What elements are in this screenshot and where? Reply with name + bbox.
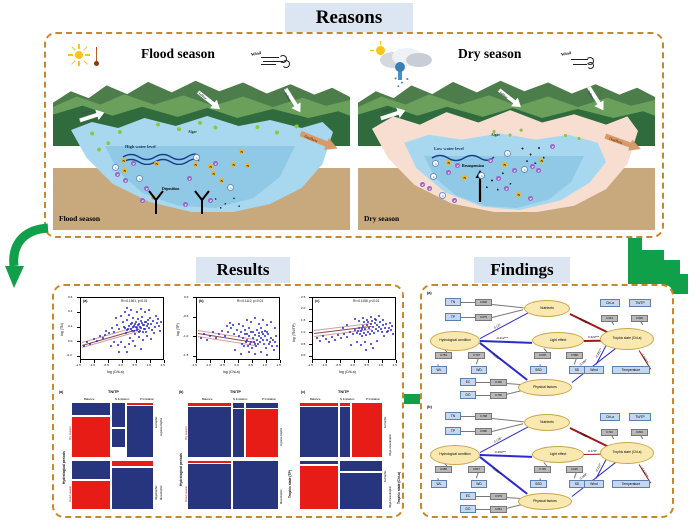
mosaic-a-col-label: Balance <box>84 397 94 401</box>
sem-b-loading-TP: 0.590 <box>475 428 492 435</box>
sem-b-observed-TN-TP[interactable]: TN/TP <box>629 413 651 421</box>
mosaic-a-xaxis-label: Hydrological periods <box>62 451 66 484</box>
sem-diagram-b: (b) TN TP 0.798 0.590 WL WD 0.686 <box>424 404 674 516</box>
mosaic-tile <box>188 407 231 457</box>
mosaic-b-xaxis-label: Hydrological periods <box>179 453 183 486</box>
sem-b-loading-DO: 0.861 <box>490 506 507 513</box>
algae-label-dry: Algae <box>491 133 500 137</box>
x-tick-label: 0.5 <box>365 364 369 368</box>
sem-a-loading-EC: 0.460 <box>490 379 507 386</box>
sem-a-loading-WD: 0.707 <box>468 352 485 359</box>
x-tick-label: 0.5 <box>249 364 253 368</box>
sem-b-loading-WD: 0.817 <box>468 466 485 473</box>
flood-season-title: Flood season <box>141 46 215 62</box>
dry-season-corner-tag: Dry season <box>364 214 399 223</box>
sem-b-latent-trophic-state[interactable]: Trophic state (Chl-a) <box>600 442 654 464</box>
mosaic-tile <box>246 409 278 457</box>
sem-a-observed-DO[interactable]: DO <box>460 391 476 399</box>
sem-a-coef-nutrients-trophic: 0.509*** <box>579 317 591 325</box>
sem-b-observed-Chl-a[interactable]: Chl-a <box>600 413 620 421</box>
x-tick-label: 1.0 <box>263 364 267 368</box>
y-tick-label: 2.5 <box>301 296 305 300</box>
mosaic-tile <box>127 406 153 457</box>
scatter-plot-c-ylabel: log (TN/TP) <box>292 323 296 342</box>
sem-loading-line <box>492 304 524 308</box>
x-tick-label: -1.5 <box>308 364 313 368</box>
x-tick-label: -1.0 <box>90 364 95 368</box>
sem-a-observed-Chl-a[interactable]: Chl-a <box>600 299 620 307</box>
sem-b-latent-light-effect[interactable]: Light effect <box>532 446 584 463</box>
mosaic-tile <box>340 407 350 457</box>
x-tick-label: 1.0 <box>379 364 383 368</box>
water-level-wave-dry <box>430 152 496 162</box>
mosaic-a-row-label: Dry season <box>69 426 72 440</box>
sem-path-hydro-light <box>480 340 532 343</box>
sem-b-observed-DO[interactable]: DO <box>460 505 476 513</box>
sem-path-hydro-physical <box>480 456 528 494</box>
mosaic-a-col-label: P limitation <box>140 397 154 401</box>
y-tick-label: -0.5 <box>183 315 188 319</box>
x-tick-label: -0.5 <box>220 364 225 368</box>
section-title-results: Results <box>196 257 290 283</box>
mosaic-tile <box>300 461 338 464</box>
water-level-label-dry: Low water level <box>434 146 464 151</box>
sem-b-coef-nutrients-trophic: 0.388*** <box>579 431 591 439</box>
y-tick-label: 0.5 <box>301 343 305 347</box>
mosaic-c-right-label: Oligo-mesotrophic <box>389 434 392 456</box>
mosaic-tile <box>72 417 110 457</box>
x-tick-label: -1.5 <box>192 364 197 368</box>
sem-b-loading-TN-TP: 0.801 <box>631 429 648 436</box>
sem-b-latent-physical-factors[interactable]: Physical factors <box>518 493 572 510</box>
mosaic-c-top-title: TN/TP <box>338 390 349 394</box>
mosaic-tile <box>300 466 338 509</box>
sem-a-observed-WL[interactable]: WL <box>431 366 447 374</box>
mosaic-b-top-title: TN/TP <box>230 390 241 394</box>
sem-a-loading-SD: 0.586 <box>566 352 583 359</box>
y-tick-label: 0.0 <box>68 340 72 344</box>
sem-b-latent-nutrients[interactable]: Nutrients <box>524 414 570 431</box>
findings-panel: (a) TN TP 0.802 0.675 WL WD <box>420 284 674 518</box>
sem-b-loading-EC: 0.579 <box>490 493 507 500</box>
mosaic-a-col-label: N limitation <box>115 397 129 401</box>
mosaic-tile <box>300 407 338 457</box>
x-tick-label: -1.0 <box>206 364 211 368</box>
sediment-cloud <box>518 144 548 166</box>
sem-a-coef-temperature-trophic: 0.465*** <box>640 353 649 364</box>
wind-label-dry: Wind <box>561 50 572 57</box>
sem-loading-line <box>476 359 479 365</box>
mosaic-plot-c: (c) TN/TP Balance N limitation P limitat… <box>300 390 404 516</box>
mosaic-tile <box>340 403 350 406</box>
mosaic-tile <box>246 403 278 408</box>
mosaic-b-col-label: P limitation <box>262 397 276 401</box>
sem-loading-line <box>476 496 490 497</box>
sem-a-tag: (a) <box>427 291 432 295</box>
mosaic-tile <box>112 468 153 509</box>
sem-a-observed-WD[interactable]: WD <box>471 366 487 374</box>
scatter-plot-a: (a) R²=0.1361, p<0.01 0.6 0.4 0.2 0.0 -0… <box>58 292 170 384</box>
y-tick-label: 0.4 <box>68 310 72 314</box>
mosaic-c-right-label: Eutrophic <box>384 417 387 428</box>
mosaic-a-tag: (a) <box>59 390 63 394</box>
sem-b-loading-Chl-a: 0.710 <box>601 429 618 436</box>
sediment-particles <box>211 195 243 211</box>
algae-patch <box>151 118 221 134</box>
results-panel: (a) R²=0.1361, p<0.01 0.6 0.4 0.2 0.0 -0… <box>52 284 404 518</box>
sem-a-latent-nutrients[interactable]: Nutrients <box>524 300 570 317</box>
mosaic-plot-b: (b) TN/TP Balance N limitation P limitat… <box>178 390 296 516</box>
mosaic-c-col-label: Balance <box>310 397 320 401</box>
sem-a-loading-DO: 0.792 <box>490 392 507 399</box>
x-tick-label: -1.5 <box>76 364 81 368</box>
sem-a-observed-EC[interactable]: EC <box>460 378 476 386</box>
sem-a-coef-hydro-physical: 0.222*** <box>492 352 503 362</box>
deposition-icon <box>146 188 166 214</box>
x-tick-label: 0.5 <box>133 364 137 368</box>
mosaic-b-right-label: Mesotrophic <box>280 489 283 504</box>
sem-a-observed-SD[interactable]: SD <box>569 366 585 374</box>
mosaic-plot-a: (a) TN/TP Balance N limitation P limitat… <box>58 390 172 516</box>
section-title-reasons-label: Reasons <box>316 7 383 29</box>
sem-b-observed-SSD[interactable]: SSD <box>530 480 547 488</box>
sem-a-observed-TN[interactable]: TN <box>445 298 461 306</box>
sem-a-observed-TN-TP[interactable]: TN/TP <box>629 299 651 307</box>
y-tick-label: -1.0 <box>183 335 188 339</box>
flow-arrow-reasons-to-results <box>4 222 56 294</box>
mosaic-c-yaxis-label: Trophic state (Chl-a) <box>397 472 401 504</box>
mosaic-a-right-label: Hypereutrophic <box>160 418 163 436</box>
mosaic-b-col-label: N limitation <box>233 397 247 401</box>
scatter-plot-b: (b) R²=0.1112, p<0.01 0.0 -0.5 -1.0 -1.5… <box>172 292 286 384</box>
mosaic-tile <box>340 473 382 509</box>
thermometer-icon <box>93 47 100 69</box>
sem-loading-line <box>476 395 490 396</box>
mosaic-tile <box>112 429 125 447</box>
y-tick-label: 1.5 <box>301 319 305 323</box>
mosaic-b-row-label: Dry season <box>185 426 188 440</box>
mosaic-a-top-title: TN/TP <box>108 390 119 394</box>
sem-b-loading-SSD: 0.795 <box>534 466 551 473</box>
sem-b-latent-hydrological-condition[interactable]: Hydrological condition <box>430 445 480 465</box>
sem-a-observed-Wind[interactable]: Wind <box>584 366 604 374</box>
y-tick-label: 2.0 <box>301 307 305 311</box>
section-title-reasons: Reasons <box>285 3 413 33</box>
sem-b-loading-WL: 0.686 <box>435 466 452 473</box>
sem-b-coef-temperature-trophic: 0.433*** <box>640 467 649 478</box>
dry-season-title: Dry season <box>458 46 521 62</box>
mosaic-tile <box>188 403 231 406</box>
sem-loading-line <box>492 418 524 422</box>
sem-b-coef-hydro-light: -0.294*** <box>494 450 506 454</box>
mosaic-a-row-label: Flood season <box>69 486 72 502</box>
y-tick-label: 0.6 <box>68 296 72 300</box>
algae-patch <box>558 130 588 144</box>
algae-label-flood: Algae <box>188 130 197 134</box>
water-level-label-flood: High water level <box>125 144 156 149</box>
sem-path-hydro-physical <box>480 342 528 380</box>
mosaic-b-row-label: Flood season <box>185 486 188 502</box>
sem-a-latent-trophic-state[interactable]: Trophic state (Chl-a) <box>600 328 654 350</box>
sem-diagram-a: (a) TN TP 0.802 0.675 WL WD <box>424 290 674 400</box>
scatter-points-b <box>196 297 280 360</box>
mosaic-tile <box>233 461 278 509</box>
sem-b-observed-SD[interactable]: SD <box>569 480 585 488</box>
sem-b-tag: (b) <box>427 405 432 409</box>
x-tick-label: -0.5 <box>104 364 109 368</box>
reasons-panel: Flood season Wind Algae High water <box>44 32 664 238</box>
sem-loading-line <box>461 431 475 432</box>
sem-a-loading-TN-TP: 0.826 <box>631 315 648 322</box>
flood-season-corner-tag: Flood season <box>59 214 100 223</box>
sem-b-observed-Wind[interactable]: Wind <box>584 480 604 488</box>
sem-loading-line <box>574 473 577 479</box>
y-tick-label: 0.2 <box>68 325 72 329</box>
sem-b-coef-hydro-physical: 0.341*** <box>492 466 503 476</box>
mosaic-tile <box>188 464 231 509</box>
sem-b-observed-WL[interactable]: WL <box>431 480 447 488</box>
x-tick-label: 0.0 <box>235 364 239 368</box>
sem-a-loading-TN: 0.802 <box>475 299 492 306</box>
scatter-plot-c: (c) R²=0.1156, p<0.01 2.5 2.0 1.5 1.0 0.… <box>288 292 402 384</box>
sem-a-latent-hydrological-condition[interactable]: Hydrological condition <box>430 331 480 351</box>
mosaic-tile <box>233 403 244 408</box>
sem-a-latent-physical-factors[interactable]: Physical factors <box>518 379 572 396</box>
y-tick-label: 1.0 <box>301 331 305 335</box>
mosaic-tile <box>127 403 153 405</box>
sem-loading-line <box>476 509 490 510</box>
x-tick-label: 1.5 <box>277 364 281 368</box>
sem-a-observed-Temperature[interactable]: Temperature <box>612 366 650 374</box>
sem-a-loading-TP: 0.675 <box>475 314 492 321</box>
scatter-plot-b-xlabel: log (Chl-a) <box>223 370 240 374</box>
section-title-results-label: Results <box>217 260 270 280</box>
mosaic-tile <box>112 461 153 466</box>
sem-a-latent-light-effect[interactable]: Light effect <box>532 332 584 349</box>
y-tick-label: -1.5 <box>183 354 188 358</box>
sem-b-observed-WD[interactable]: WD <box>471 480 487 488</box>
x-tick-label: 1.5 <box>161 364 165 368</box>
mosaic-c-col-label: N limitation <box>340 397 354 401</box>
y-tick-label: -0.2 <box>67 354 72 358</box>
sem-a-coef-light-trophic: 0.323*** <box>588 335 599 339</box>
mosaic-b-right-label: Hypereutrophic <box>280 428 283 446</box>
wind-icon-flood <box>261 54 293 68</box>
x-tick-label: 1.5 <box>393 364 397 368</box>
mosaic-tile <box>72 461 110 479</box>
sem-b-observed-TN[interactable]: TN <box>445 412 461 420</box>
sem-loading-line <box>461 416 475 417</box>
sem-a-loading-Chl-a: 0.913 <box>601 315 618 322</box>
mosaic-b-col-label: Balance <box>202 397 212 401</box>
dry-season-scene: Dry season Wind Algae Low water level <box>358 40 655 230</box>
x-tick-label: -1.0 <box>322 364 327 368</box>
mosaic-tile <box>233 409 244 457</box>
sem-loading-line <box>461 302 475 303</box>
scatter-plot-c-xlabel: log (Chl-a) <box>339 370 356 374</box>
scatter-points-c <box>312 297 396 360</box>
y-tick-label: 0.0 <box>184 296 188 300</box>
sem-b-loading-TN: 0.798 <box>475 413 492 420</box>
mosaic-c-right-label: Eutrophic <box>384 471 387 482</box>
sem-loading-line <box>461 317 475 318</box>
mosaic-tile <box>72 481 110 509</box>
mosaic-tile <box>188 461 231 463</box>
wind-icon-dry <box>571 56 599 68</box>
sem-path-hydro-light <box>480 454 532 457</box>
sem-b-coef-light-trophic: 0.170* <box>588 449 597 453</box>
sem-b-loading-SD: 0.620 <box>566 466 583 473</box>
mosaic-tile <box>112 403 125 427</box>
scatter-points-a <box>80 297 164 360</box>
mosaic-c-col-label: P limitation <box>366 397 380 401</box>
mosaic-c-right-label: Oligo-mesotrophic <box>389 486 392 508</box>
scatter-plot-b-ylabel: log (TP) <box>176 323 180 336</box>
sem-b-observed-TP[interactable]: TP <box>445 427 461 435</box>
x-tick-label: -0.5 <box>336 364 341 368</box>
mosaic-c-tag: (c) <box>301 390 305 394</box>
y-tick-label: 0.0 <box>301 354 305 358</box>
wind-label-flood: Wind <box>251 50 262 57</box>
sem-a-observed-TP[interactable]: TP <box>445 313 461 321</box>
sem-loading-line <box>476 473 479 479</box>
sem-loading-line <box>476 382 490 383</box>
mosaic-tile <box>300 403 338 406</box>
sem-b-observed-EC[interactable]: EC <box>460 492 476 500</box>
sun-icon <box>68 44 90 66</box>
sem-a-observed-SSD[interactable]: SSD <box>530 366 547 374</box>
sem-a-loading-WL: 0.754 <box>435 352 452 359</box>
deposition-icon <box>192 188 212 214</box>
mosaic-tile <box>352 403 382 457</box>
sem-a-coef-hydro-light: -0.412*** <box>496 336 508 340</box>
x-tick-label: 1.0 <box>147 364 151 368</box>
mosaic-b-tag: (b) <box>179 390 183 394</box>
sem-loading-line <box>574 359 577 365</box>
flood-season-scene: Flood season Wind Algae High water <box>53 40 350 230</box>
mosaic-a-right-label: Mesotrophic <box>160 485 163 500</box>
scatter-plot-a-xlabel: log (Chl-a) <box>107 370 124 374</box>
mosaic-b-yaxis-label: Trophic state (TP) <box>288 470 292 498</box>
scatter-plot-a-ylabel: log (TN) <box>60 323 64 336</box>
x-tick-label: 0.0 <box>119 364 123 368</box>
section-title-findings-label: Findings <box>490 260 553 280</box>
sem-a-loading-SSD: 0.678 <box>534 352 551 359</box>
algae-patch <box>249 120 305 138</box>
section-title-findings: Findings <box>474 257 570 283</box>
x-tick-label: 0.0 <box>351 364 355 368</box>
mosaic-tile <box>340 461 382 471</box>
mosaic-a-right-label: Oligotrophic <box>155 486 158 500</box>
sem-b-observed-Temperature[interactable]: Temperature <box>612 480 650 488</box>
mosaic-tile <box>72 403 110 415</box>
mosaic-a-right-label: Eutrophic <box>155 417 158 428</box>
